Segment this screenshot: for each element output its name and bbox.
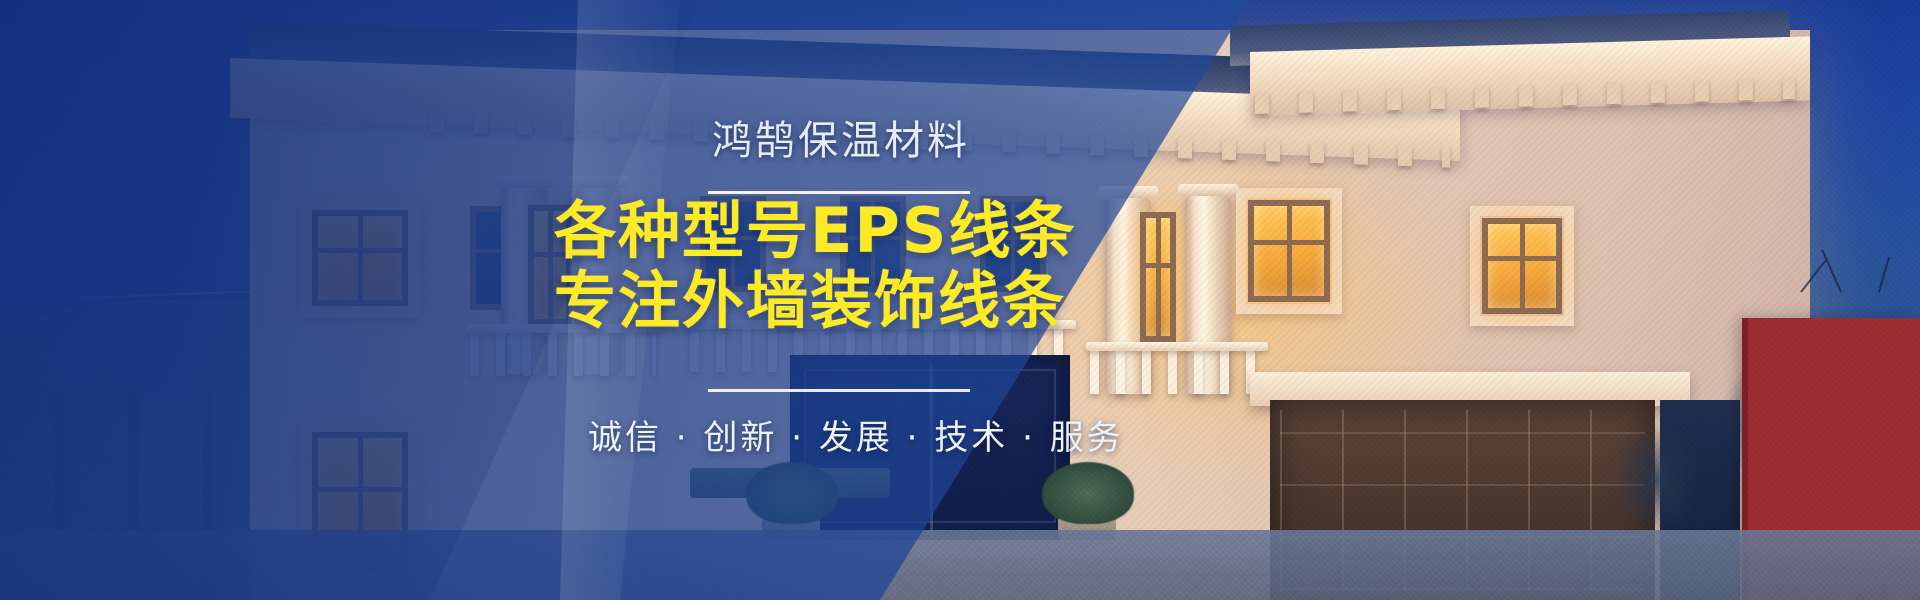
tagline: 诚信 · 创新 · 发展 · 技术 · 服务 <box>588 410 1288 459</box>
banner-content: 鸿鹄保温材料 各种型号EPS线条 专注外墙装饰线条 诚信 · 创新 · 发展 ·… <box>0 0 1920 600</box>
divider-bottom <box>708 389 970 392</box>
brand-name: 鸿鹄保温材料 <box>712 108 970 166</box>
headline: 各种型号EPS线条 专注外墙装饰线条 <box>554 196 1214 336</box>
headline-line-2: 专注外墙装饰线条 <box>554 266 1214 336</box>
headline-line-1: 各种型号EPS线条 <box>554 196 1214 266</box>
promo-banner: 鸿鹄保温材料 各种型号EPS线条 专注外墙装饰线条 诚信 · 创新 · 发展 ·… <box>0 0 1920 600</box>
